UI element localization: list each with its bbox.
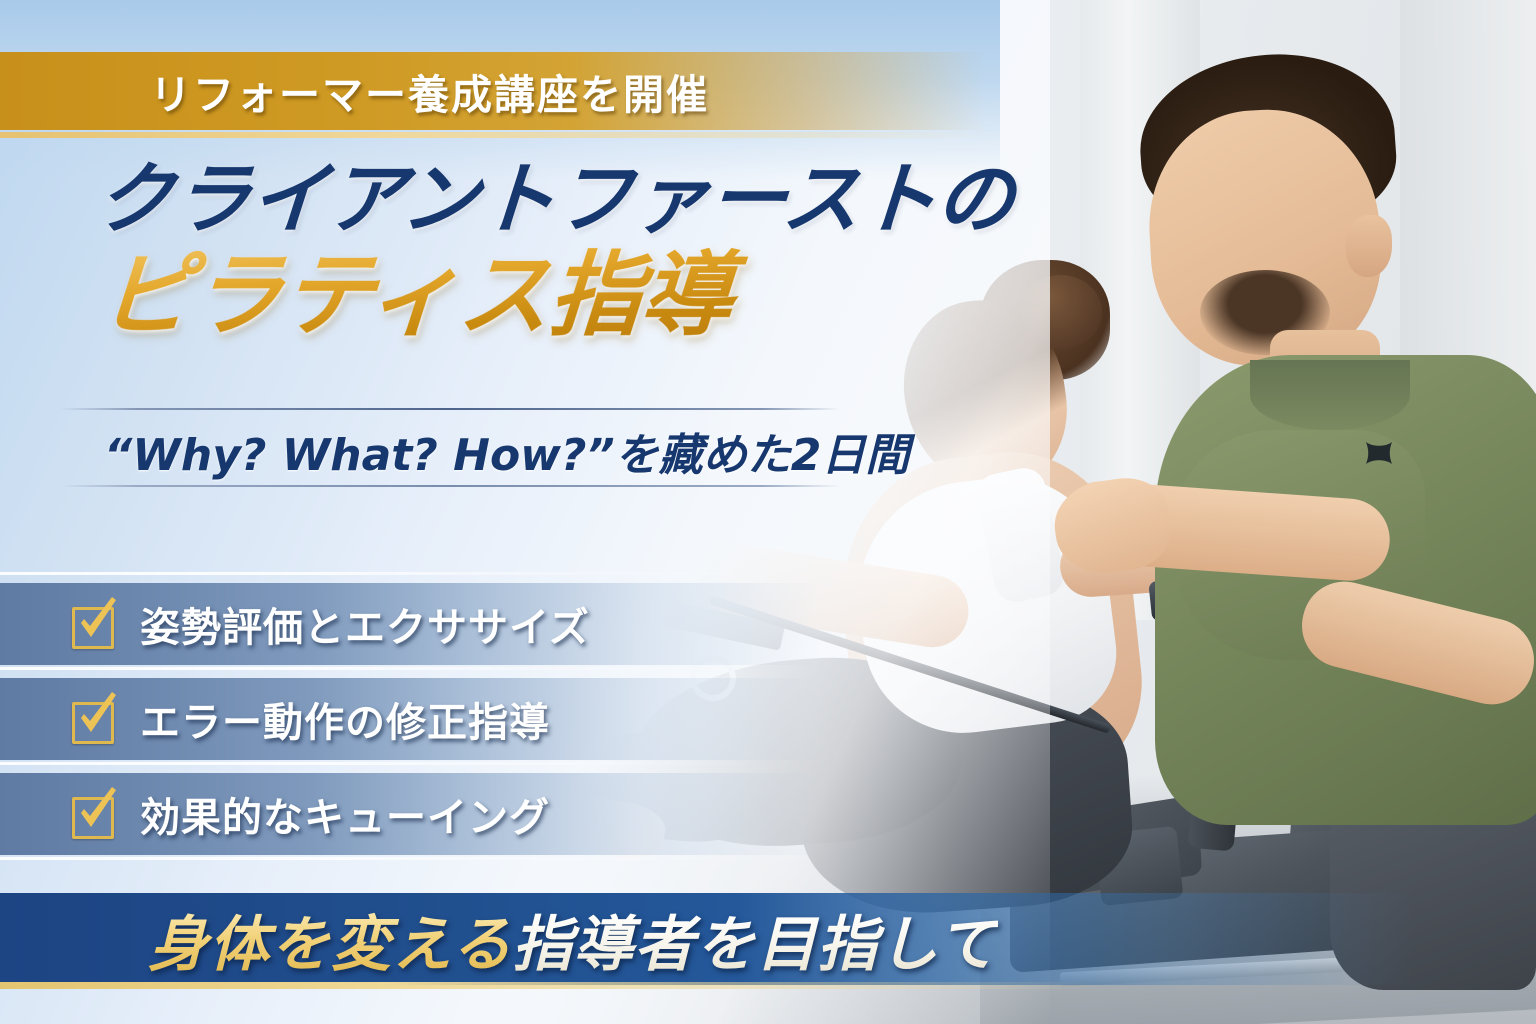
feature-item-1: 姿勢評価とエクササイズ bbox=[0, 583, 820, 665]
feature-item-3: 効果的なキューイング bbox=[0, 773, 820, 855]
client-bun-knot bbox=[1020, 275, 1102, 349]
checkbox-check-icon bbox=[72, 698, 114, 740]
feature-label-3: 効果的なキューイング bbox=[140, 785, 550, 843]
under-armour-logo-icon bbox=[1362, 440, 1396, 466]
subtitle-rule-bottom bbox=[60, 485, 840, 487]
subtitle-rule-top bbox=[60, 408, 840, 410]
bottom-blue-banner: 身体を変える指導者を目指して bbox=[0, 893, 1536, 985]
feature-separator-0 bbox=[0, 572, 760, 575]
top-banner-underline bbox=[0, 132, 985, 138]
feature-label-2: エラー動作の修正指導 bbox=[140, 690, 550, 748]
feature-separator-1 bbox=[0, 667, 760, 670]
promo-banner: リフォーマー養成講座を開催 クライアントファーストの ピラティス指導 “Why?… bbox=[0, 0, 1536, 1024]
feature-item-2: エラー動作の修正指導 bbox=[0, 678, 820, 760]
hero-photo bbox=[0, 0, 1536, 1024]
bottom-banner-text-gold: 身体を変える bbox=[148, 910, 512, 980]
instructor-shirt-collar bbox=[1250, 360, 1410, 430]
instructor-ear bbox=[1346, 215, 1392, 277]
headline-line-2: ピラティス指導 bbox=[97, 248, 1004, 345]
headline-block: クライアントファーストの ピラティス指導 bbox=[0, 160, 1000, 344]
bottom-banner-text-white: 指導者を目指して bbox=[512, 910, 998, 980]
headline-line-1: クライアントファーストの bbox=[93, 160, 1003, 242]
subtitle-text: “Why? What? How?”を藏めた2日間 bbox=[104, 419, 909, 483]
feature-separator-2 bbox=[0, 762, 760, 765]
feature-label-1: 姿勢評価とエクササイズ bbox=[140, 595, 590, 653]
top-gold-banner: リフォーマー養成講座を開催 bbox=[0, 52, 985, 130]
bottom-banner-underline bbox=[0, 982, 1100, 989]
checkbox-check-icon bbox=[72, 603, 114, 645]
top-banner-text: リフォーマー養成講座を開催 bbox=[150, 61, 709, 121]
bottom-banner-text: 身体を変える指導者を目指して bbox=[148, 896, 998, 983]
checkbox-check-icon bbox=[72, 793, 114, 835]
feature-separator-3 bbox=[0, 857, 760, 860]
